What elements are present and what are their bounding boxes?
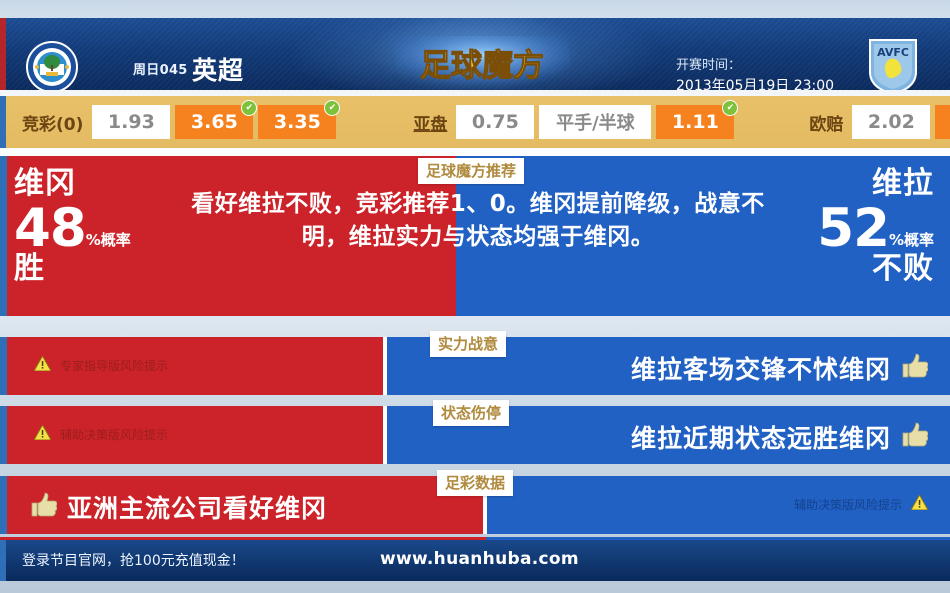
odds-value: 3.35 — [274, 111, 321, 133]
home-probability-block: 维冈 48 %概率 胜 — [14, 168, 164, 284]
tab-recommendation[interactable]: 足球魔方推荐 — [418, 158, 524, 184]
warning-triangle-icon — [34, 356, 51, 375]
warning-triangle-icon — [911, 495, 928, 514]
league-name: 英超 — [192, 51, 244, 87]
home-team-logo-icon — [25, 40, 79, 90]
recommendation-text: 看好维拉不败，竞彩推荐1、0。维冈提前降级，战意不明，维拉实力与状态均强于维冈。 — [178, 188, 778, 253]
header-bar: 周日045 英超 足球魔方 开赛时间： — [0, 18, 950, 90]
check-icon: ✔ — [324, 100, 340, 116]
home-percent-value: 48 — [14, 202, 86, 255]
odds-cell[interactable]: 2.02 — [852, 105, 930, 139]
odds-group-label: 竞彩(0) — [22, 110, 83, 135]
risk-warning-right: 辅助决策版风险提示 — [794, 495, 928, 514]
home-percent-suffix: %概率 — [86, 233, 131, 255]
risk-warning-text: 辅助决策版风险提示 — [794, 496, 902, 513]
svg-text:足球魔方: 足球魔方 — [420, 48, 544, 84]
row-statement-text: 亚洲主流公司看好维冈 — [67, 489, 327, 525]
kickoff-label: 开赛时间： — [676, 54, 741, 73]
odds-group-label: 亚盘 — [413, 110, 447, 135]
row-statement: 亚洲主流公司看好维冈 — [30, 489, 327, 525]
tab-lottery-data[interactable]: 足彩数据 — [437, 470, 513, 496]
odds-cell[interactable]: 3.35✔ — [258, 105, 336, 139]
home-result-label: 胜 — [14, 253, 164, 285]
odds-cell[interactable]: 0.75 — [456, 105, 534, 139]
row-left-accent — [0, 476, 7, 534]
odds-cell[interactable]: 1.11✔ — [656, 105, 734, 139]
row-left-accent — [0, 406, 7, 464]
odds-bar: 竞彩(0) 1.93 3.65✔ 3.35✔ 亚盘 0.75 平手/半球 1.1… — [0, 96, 950, 148]
check-icon: ✔ — [722, 100, 738, 116]
brand-logo-icon: 足球魔方 — [395, 36, 570, 90]
tab-strength-intent[interactable]: 实力战意 — [430, 331, 506, 357]
away-percent-value: 52 — [817, 202, 889, 255]
row-statement-text: 维拉客场交锋不怵维冈 — [631, 350, 891, 386]
risk-warning-left: 专家指导版风险提示 — [34, 356, 168, 375]
odds-value: 1.11 — [672, 111, 719, 133]
row-statement: 维拉客场交锋不怵维冈 — [631, 350, 928, 386]
check-icon: ✔ — [241, 100, 257, 116]
header-left-accent — [0, 18, 6, 90]
odds-row: 竞彩(0) 1.93 3.65✔ 3.35✔ 亚盘 0.75 平手/半球 1.1… — [0, 96, 950, 148]
warning-triangle-icon — [34, 425, 51, 444]
risk-warning-text: 专家指导版风险提示 — [60, 357, 168, 374]
away-team-logo-icon: AVFC — [866, 38, 920, 90]
odds-group-label: 欧赔 — [809, 110, 843, 135]
odds-group-jingcai: 竞彩(0) 1.93 3.65✔ 3.35✔ — [22, 105, 341, 139]
row-statement: 维拉近期状态远胜维冈 — [631, 419, 928, 455]
row-statement-text: 维拉近期状态远胜维冈 — [631, 419, 891, 455]
odds-value: 平手/半球 — [556, 109, 635, 135]
thumbs-up-icon — [901, 422, 928, 453]
odds-cell[interactable]: 3.36✔ — [935, 105, 950, 139]
odds-cell[interactable]: 1.93 — [92, 105, 170, 139]
odds-value: 0.75 — [472, 111, 519, 133]
thumbs-up-icon — [30, 492, 57, 523]
odds-group-oupei: 欧赔 2.02 3.36✔ 3.54✔ — [809, 105, 950, 139]
footer-bar: 登录节目官网，抢100元充值现金！ www.huanhuba.com — [0, 537, 950, 581]
main-left-accent — [0, 156, 7, 316]
odds-value: 1.93 — [108, 111, 155, 133]
footer-top-blue-accent — [486, 537, 950, 540]
svg-text:AVFC: AVFC — [877, 46, 909, 59]
odds-value: 3.65 — [191, 111, 238, 133]
odds-group-yapan: 亚盘 0.75 平手/半球 1.11✔ — [413, 105, 739, 139]
away-probability-block: 维拉 52 %概率 不败 — [764, 168, 934, 284]
risk-warning-text: 辅助决策版风险提示 — [60, 426, 168, 443]
kickoff-time: 2013年05月19日 23:00 — [676, 75, 834, 90]
thumbs-up-icon — [901, 353, 928, 384]
odds-cell[interactable]: 平手/半球 — [539, 105, 651, 139]
row-left-accent — [0, 337, 7, 395]
footer-promo-text: 登录节目官网，抢100元充值现金！ — [22, 550, 245, 570]
match-number: 周日045 — [133, 59, 188, 78]
broadcast-graphic: 周日045 英超 足球魔方 开赛时间： — [0, 0, 950, 593]
odds-cell[interactable]: 3.65✔ — [175, 105, 253, 139]
risk-warning-left: 辅助决策版风险提示 — [34, 425, 168, 444]
away-team-name: 维拉 — [764, 168, 934, 200]
odds-value: 2.02 — [868, 111, 915, 133]
home-team-name: 维冈 — [14, 168, 164, 200]
home-percent-row: 48 %概率 — [14, 202, 164, 255]
tab-form-injury[interactable]: 状态伤停 — [433, 400, 509, 426]
footer-top-red-accent — [0, 537, 486, 540]
footer-left-accent — [0, 540, 6, 581]
away-percent-row: 52 %概率 — [764, 202, 934, 255]
footer-website-link[interactable]: www.huanhuba.com — [380, 549, 579, 569]
